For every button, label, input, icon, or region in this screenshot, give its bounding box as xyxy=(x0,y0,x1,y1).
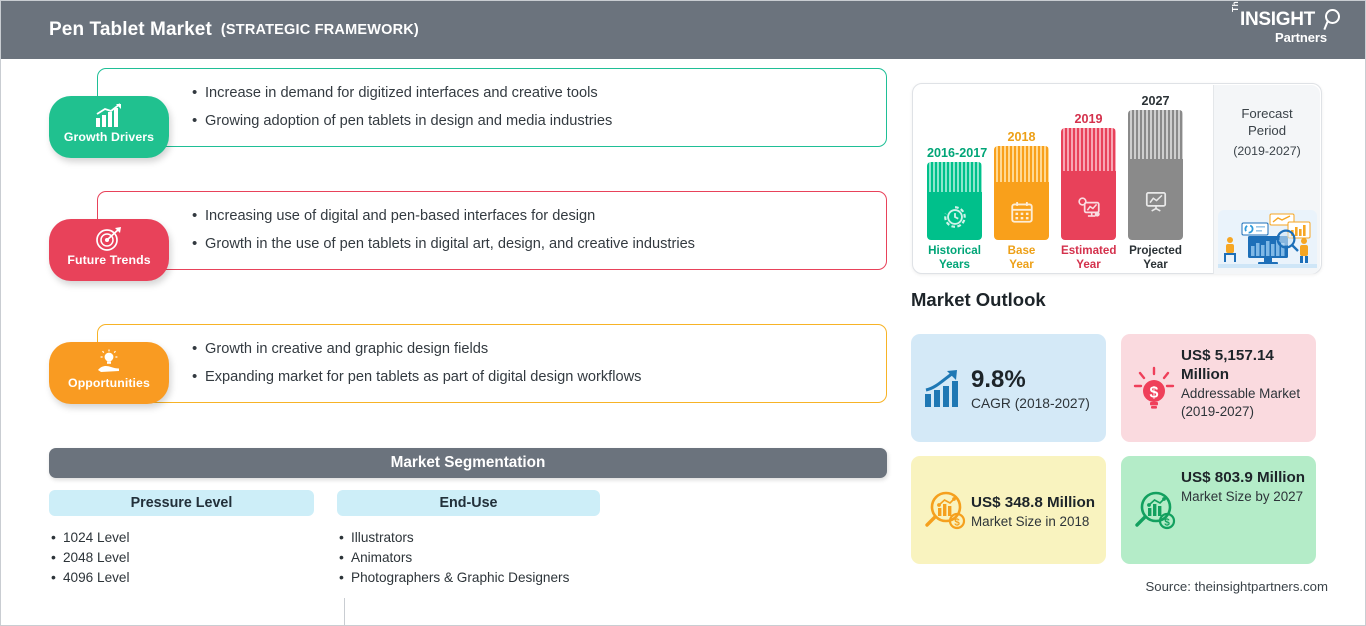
list-item: 2048 Level xyxy=(49,548,314,568)
bar-year-label: 2019 xyxy=(1061,112,1116,126)
segmentation-column-pressure-level: Pressure Level 1024 Level 2048 Level 409… xyxy=(49,490,314,588)
list-item: Animators xyxy=(337,548,600,568)
svg-text:$: $ xyxy=(1150,385,1159,402)
stat-value: US$ 348.8 Million xyxy=(971,493,1095,512)
market-segmentation-header: Market Segmentation xyxy=(49,448,887,478)
bar-caption: Projected Year xyxy=(1128,244,1183,271)
bar-stripe-pattern xyxy=(927,162,982,192)
presentation-chart-icon xyxy=(1143,188,1169,214)
source-text: Source: theinsightpartners.com xyxy=(1145,579,1328,594)
bar-year-label: 2018 xyxy=(994,130,1049,144)
bar-caption: Base Year xyxy=(994,244,1049,271)
stat-text: 9.8% CAGR (2018-2027) xyxy=(971,365,1090,413)
segmentation-item-list: Illustrators Animators Photographers & G… xyxy=(337,528,600,588)
dashboard-analytics-illustration xyxy=(1218,210,1317,268)
forecast-period-title: Forecast Period xyxy=(1214,105,1320,139)
badge-label: Growth Drivers xyxy=(64,130,154,144)
segmentation-column-header: End-Use xyxy=(337,490,600,516)
forecast-period-panel: Forecast Period (2019-2027) xyxy=(1213,85,1320,274)
logo-the-text: The xyxy=(1230,0,1240,12)
framework-panel-opportunities: Growth in creative and graphic design fi… xyxy=(97,324,887,403)
clock-history-icon xyxy=(942,204,968,230)
stat-label: Market Size by 2027 xyxy=(1181,488,1305,506)
bullet-item: Increase in demand for digitized interfa… xyxy=(192,85,872,102)
insight-partners-logo[interactable]: The INSIGHT Partners xyxy=(1229,8,1349,52)
forecast-bar-historical-years: 2016-2017 Historical Years xyxy=(927,146,982,271)
list-item: Illustrators xyxy=(337,528,600,548)
outlook-column: 2016-2017 Historical Years xyxy=(901,59,1366,626)
bar-solid-fill xyxy=(994,182,1049,240)
list-item: Photographers & Graphic Designers xyxy=(337,568,600,588)
segmentation-column-label: Pressure Level xyxy=(131,495,233,511)
bar-stripe-pattern xyxy=(1128,110,1183,159)
forecast-period-years: (2019-2027) xyxy=(1214,144,1320,158)
stat-text: US$ 348.8 Million Market Size in 2018 xyxy=(971,491,1095,531)
badge-growth-drivers[interactable]: Growth Drivers xyxy=(49,96,169,158)
bar-chart-growth-icon xyxy=(921,366,967,412)
framework-panel-growth-drivers: Increase in demand for digitized interfa… xyxy=(97,68,887,147)
stat-label: CAGR (2018-2027) xyxy=(971,395,1090,413)
lightbulb-dollar-icon: $ xyxy=(1131,366,1177,412)
forecast-bar-base-year: 2018 xyxy=(994,130,1049,271)
logo-insight-text: INSIGHT xyxy=(1240,9,1315,31)
calendar-icon xyxy=(1009,199,1035,225)
list-item: 4096 Level xyxy=(49,568,314,588)
analytics-gear-icon xyxy=(1076,194,1102,220)
stat-value: 9.8% xyxy=(971,367,1090,393)
bar-caption: Estimated Year xyxy=(1061,244,1116,271)
page-subtitle: (STRATEGIC FRAMEWORK) xyxy=(221,22,419,38)
bullet-list: Growth in creative and graphic design fi… xyxy=(98,325,886,402)
stat-card-market-size-2018: $ US$ 348.8 Million Market Size in 2018 xyxy=(911,456,1106,564)
stat-label: Market Size in 2018 xyxy=(971,513,1095,531)
list-item: 1024 Level xyxy=(49,528,314,548)
segmentation-item-list: 1024 Level 2048 Level 4096 Level xyxy=(49,528,314,588)
target-dartboard-icon xyxy=(94,226,124,252)
bullet-item: Growth in creative and graphic design fi… xyxy=(192,341,872,358)
forecast-period-card: 2016-2017 Historical Years xyxy=(912,83,1322,274)
bullet-item: Increasing use of digital and pen-based … xyxy=(192,208,872,225)
logo-partners-text: Partners xyxy=(1275,30,1327,45)
bar-solid-fill xyxy=(927,192,982,240)
segmentation-column-label: End-Use xyxy=(440,495,498,511)
stat-value: US$ 803.9 Million xyxy=(1181,468,1305,487)
market-segmentation-title: Market Segmentation xyxy=(391,454,546,472)
svg-text:$: $ xyxy=(954,518,960,529)
bar-stripe-pattern xyxy=(994,146,1049,182)
bar-year-label: 2016-2017 xyxy=(927,146,982,160)
forecast-bars: 2016-2017 Historical Years xyxy=(927,84,1182,275)
stat-card-addressable-market: $ US$ 5,157.14 Million Addressable Marke… xyxy=(1121,334,1316,442)
bar-caption: Historical Years xyxy=(927,244,982,271)
page-divider xyxy=(344,598,345,626)
forecast-bar-estimated-year: 2019 xyxy=(1061,112,1116,271)
stat-card-market-size-2027: $ US$ 803.9 Million Market Size by 2027 xyxy=(1121,456,1316,564)
bar-solid-fill xyxy=(1128,159,1183,240)
magnifier-chart-dollar-icon: $ xyxy=(921,488,967,534)
bar-year-label: 2027 xyxy=(1128,94,1183,108)
svg-text:$: $ xyxy=(1164,518,1170,529)
bar-solid-fill xyxy=(1061,171,1116,240)
badge-future-trends[interactable]: Future Trends xyxy=(49,219,169,281)
badge-label: Future Trends xyxy=(67,253,150,267)
bullet-item: Expanding market for pen tablets as part… xyxy=(192,369,872,386)
infographic-page: Pen Tablet Market (STRATEGIC FRAMEWORK) … xyxy=(0,0,1366,626)
forecast-bar-projected-year: 2027 Projected Year xyxy=(1128,94,1183,271)
bar-stripe-pattern xyxy=(1061,128,1116,171)
segmentation-column-end-use: End-Use Illustrators Animators Photograp… xyxy=(337,490,600,588)
magnifier-chart-dollar-icon: $ xyxy=(1131,488,1177,534)
framework-column: Increase in demand for digitized interfa… xyxy=(1,59,901,626)
stat-card-cagr: 9.8% CAGR (2018-2027) xyxy=(911,334,1106,442)
lightbulb-in-hand-icon xyxy=(94,349,124,375)
stat-text: US$ 5,157.14 Million Addressable Market … xyxy=(1181,344,1306,434)
bullet-list: Increasing use of digital and pen-based … xyxy=(98,192,886,269)
market-outlook-title: Market Outlook xyxy=(911,289,1046,311)
segmentation-column-header: Pressure Level xyxy=(49,490,314,516)
magnifier-handle-icon xyxy=(1323,21,1329,30)
badge-label: Opportunities xyxy=(68,376,150,390)
bullet-item: Growth in the use of pen tablets in digi… xyxy=(192,236,872,253)
bar-chart-arrow-up-icon xyxy=(94,103,124,129)
bullet-list: Increase in demand for digitized interfa… xyxy=(98,69,886,146)
framework-panel-future-trends: Increasing use of digital and pen-based … xyxy=(97,191,887,270)
stat-value: US$ 5,157.14 Million xyxy=(1181,346,1306,384)
stat-text: US$ 803.9 Million Market Size by 2027 xyxy=(1181,466,1305,556)
bullet-item: Growing adoption of pen tablets in desig… xyxy=(192,113,872,130)
page-header: Pen Tablet Market (STRATEGIC FRAMEWORK) … xyxy=(1,1,1366,59)
page-title: Pen Tablet Market xyxy=(49,19,212,41)
stat-label: Addressable Market (2019-2027) xyxy=(1181,385,1306,421)
badge-opportunities[interactable]: Opportunities xyxy=(49,342,169,404)
